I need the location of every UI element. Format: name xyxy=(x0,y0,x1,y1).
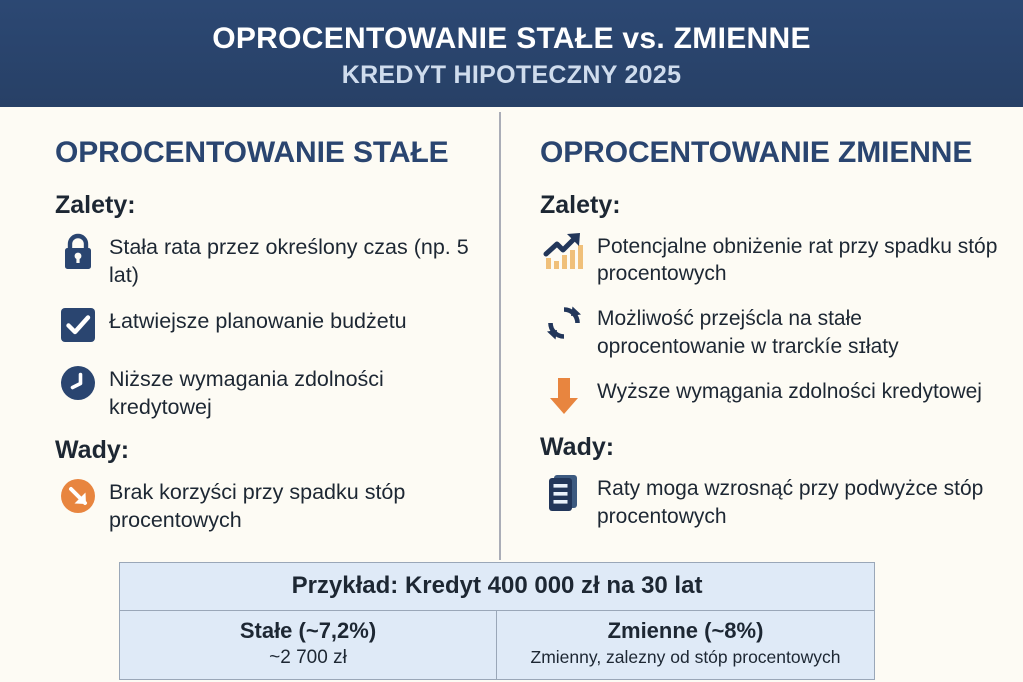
documents-icon xyxy=(540,470,588,516)
lock-icon xyxy=(55,228,101,274)
pros-list-variable: Potencjalne obniżenie rat przy spadku st… xyxy=(540,230,1003,420)
table-row: Stałe (~7,2%) ~2 700 zł Zmienne (~8%) Zm… xyxy=(120,611,874,679)
example-fixed-value: ~2 700 zł xyxy=(126,646,490,671)
header-banner: OPROCENTOWANIE STAŁE vs. ZMIENNE KREDYT … xyxy=(0,0,1023,107)
list-item-label: Potencjalne obniżenie rat przy spadku st… xyxy=(597,230,1003,289)
list-item-label: Możliwość przejścla na stałe oprocentowa… xyxy=(597,302,1003,361)
column-fixed-rate: OPROCENTOWANIE STAŁE Zalety: Stała rata … xyxy=(0,107,500,560)
pros-label-fixed: Zalety: xyxy=(55,191,476,220)
example-fixed-title: Stałe (~7,2%) xyxy=(126,617,490,645)
page-title: OPROCENTOWANIE STAŁE vs. ZMIENNE xyxy=(212,23,811,55)
list-item: Stała rata przez określony czas (np. 5 l… xyxy=(55,230,476,290)
example-cell-variable: Zmienne (~8%) Zmienny, zalezny od stóp p… xyxy=(497,611,874,679)
page-subtitle: KREDYT HIPOTECZNY 2025 xyxy=(342,61,682,90)
refresh-cycle-icon xyxy=(540,300,588,346)
list-item: Potencjalne obniżenie rat przy spadku st… xyxy=(540,230,1003,289)
list-item: Łatwiejsze planowanie budżetu xyxy=(55,304,476,348)
check-square-icon xyxy=(55,302,101,348)
cons-label-variable: Wady: xyxy=(540,433,1003,462)
list-item-label: Stała rata przez określony czas (np. 5 l… xyxy=(109,230,476,290)
list-item: Niższe wymagania zdolności kredytowej xyxy=(55,362,476,422)
arrow-down-right-circle-icon xyxy=(55,473,101,519)
comparison-columns: OPROCENTOWANIE STAŁE Zalety: Stała rata … xyxy=(0,107,1023,560)
list-item: Wyższe wymągania zdolności kredytowej xyxy=(540,375,1003,419)
clock-icon xyxy=(55,360,101,406)
column-heading-variable: OPROCENTOWANIE ZMIENNE xyxy=(540,137,1003,169)
cons-label-fixed: Wady: xyxy=(55,436,476,465)
arrow-down-icon xyxy=(540,373,588,419)
example-variable-title: Zmienne (~8%) xyxy=(503,617,868,645)
column-heading-fixed: OPROCENTOWANIE STAŁE xyxy=(55,137,476,169)
cons-list-variable: Raty moga wzrosnąć przy podwyżce stóp pr… xyxy=(540,472,1003,531)
list-item: Możliwość przejścla na stałe oprocentowa… xyxy=(540,302,1003,361)
example-table: Przykład: Kredyt 400 000 zł na 30 lat St… xyxy=(119,562,875,680)
list-item-label: Raty moga wzrosnąć przy podwyżce stóp pr… xyxy=(597,472,1003,531)
pros-list-fixed: Stała rata przez określony czas (np. 5 l… xyxy=(55,230,476,422)
list-item-label: Wyższe wymągania zdolności kredytowej xyxy=(597,375,982,406)
list-item-label: Niższe wymagania zdolności kredytowej xyxy=(109,362,476,422)
list-item-label: Brak korzyści przy spadku stóp procentow… xyxy=(109,475,476,535)
column-variable-rate: OPROCENTOWANIE ZMIENNE Zalety: Potencjal… xyxy=(500,107,1023,560)
example-variable-value: Zmienny, zalezny od stóp procentowych xyxy=(503,646,868,669)
cons-list-fixed: Brak korzyści przy spadku stóp procentow… xyxy=(55,475,476,535)
list-item-label: Łatwiejsze planowanie budżetu xyxy=(109,304,407,336)
list-item: Raty moga wzrosnąć przy podwyżce stóp pr… xyxy=(540,472,1003,531)
example-table-header: Przykład: Kredyt 400 000 zł na 30 lat xyxy=(120,563,874,611)
list-item: Brak korzyści przy spadku stóp procentow… xyxy=(55,475,476,535)
pros-label-variable: Zalety: xyxy=(540,191,1003,220)
chart-arrow-up-icon xyxy=(540,228,588,274)
example-cell-fixed: Stałe (~7,2%) ~2 700 zł xyxy=(120,611,497,679)
